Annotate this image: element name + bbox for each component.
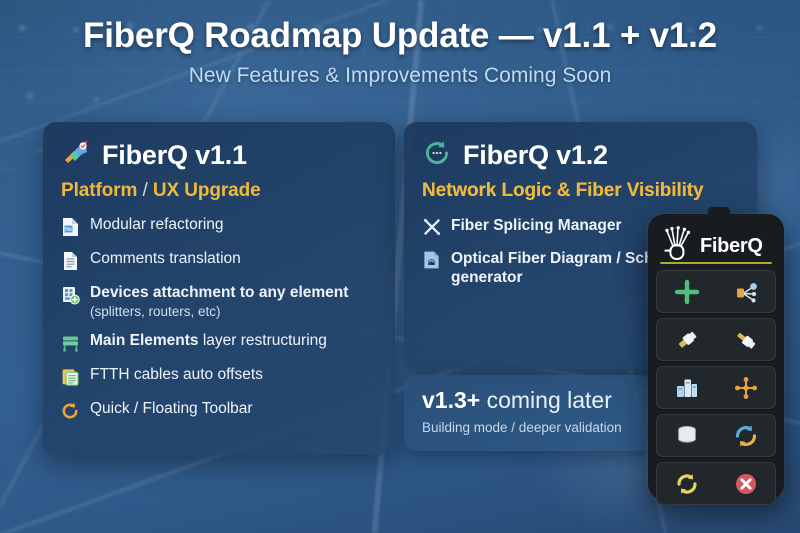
fiber-doc-icon [422,250,441,270]
list-item: Devices attachment to any element (split… [61,284,377,319]
card-v11-subtitle-alt: UX Upgrade [153,180,261,201]
connector-left-icon[interactable] [672,325,702,355]
list-item-label: Fiber Splicing Manager [451,216,622,235]
refresh-yellow-icon[interactable] [672,469,702,499]
list-item-note: (splitters, routers, etc) [90,304,348,319]
list-item-label: Main Elements layer restructuring [90,332,327,350]
toolbar-row [656,366,776,409]
toolbar-row [656,462,776,505]
list-item: file Modular refactoring [61,216,377,237]
card-v13-title: v1.3+ coming later [422,387,635,414]
toolbar-header: FiberQ [654,220,778,268]
sync-blue-yellow-icon[interactable] [731,421,761,451]
document-icon [61,251,80,271]
refresh-orange-icon [61,401,80,421]
card-v13-label: coming later [480,387,612,413]
poster-canvas: FiberQ Roadmap Update — v1.1 + v1.2 New … [0,0,800,533]
page-title: FiberQ Roadmap Update — v1.1 + v1.2 [0,16,800,56]
list-item-label: Comments translation [90,250,241,268]
cabinet-icon[interactable] [672,373,702,403]
toolbar-row [656,318,776,361]
list-item: Comments translation [61,250,377,271]
svg-text:file: file [65,227,72,233]
card-v11-feature-list: file Modular refactoring Comments transl… [61,216,377,421]
page-subtitle: New Features & Improvements Coming Soon [0,64,800,88]
card-v11-subtitle-main: Platform [61,180,137,201]
card-v13-next: v1.3+ coming later Building mode / deepe… [404,375,651,451]
card-v11-header: FiberQ v1.1 [61,138,377,173]
list-item: Quick / Floating Toolbar [61,400,377,421]
card-v12-title: FiberQ v1.2 [463,140,608,171]
distribute-node-icon[interactable] [731,373,761,403]
chat-cycle-icon [422,138,452,173]
card-v12-subtitle: Network Logic & Fiber Visibility [422,180,739,202]
list-item-label: Modular refactoring [90,216,224,234]
database-icon[interactable] [672,421,702,451]
card-v12-header: FiberQ v1.2 [422,138,739,173]
toolbar-row [656,414,776,457]
list-item-label-strong: Main Elements [90,332,199,349]
toolbar-row [656,270,776,313]
list-item: FTTH cables auto offsets [61,366,377,387]
file-icon: file [61,217,80,237]
toolbar-notch [708,207,730,216]
floating-toolbar[interactable]: FiberQ [648,214,784,500]
card-v13-note: Building mode / deeper validation [422,420,635,435]
card-v11-title: FiberQ v1.1 [102,140,247,171]
list-item-block: Devices attachment to any element (split… [90,284,348,319]
layers-green-icon [61,333,80,353]
list-item-label-rest: layer restructuring [199,332,327,349]
list-item-label: FTTH cables auto offsets [90,366,263,384]
device-add-icon [61,285,80,305]
card-v11: FiberQ v1.1 Platform / UX Upgrade file M… [43,122,395,455]
splice-tools-icon [422,217,441,237]
card-v13-version: v1.3+ [422,387,480,413]
list-item: Main Elements layer restructuring [61,332,377,353]
close-red-icon[interactable] [731,469,761,499]
fiber-bundle-icon [660,226,694,267]
poster-header: FiberQ Roadmap Update — v1.1 + v1.2 New … [0,16,800,88]
list-item-label: Quick / Floating Toolbar [90,400,253,418]
plus-green-icon[interactable] [672,277,702,307]
connector-right-icon[interactable] [731,325,761,355]
rocket-icon [61,138,91,173]
list-item-label: Devices attachment to any element [90,284,348,301]
card-v11-subtitle-sep: / [137,180,153,201]
splitter-node-icon[interactable] [731,277,761,307]
toolbar-brand: FiberQ [700,235,763,258]
layers-yellow-icon [61,367,80,387]
card-v11-subtitle: Platform / UX Upgrade [61,180,377,202]
